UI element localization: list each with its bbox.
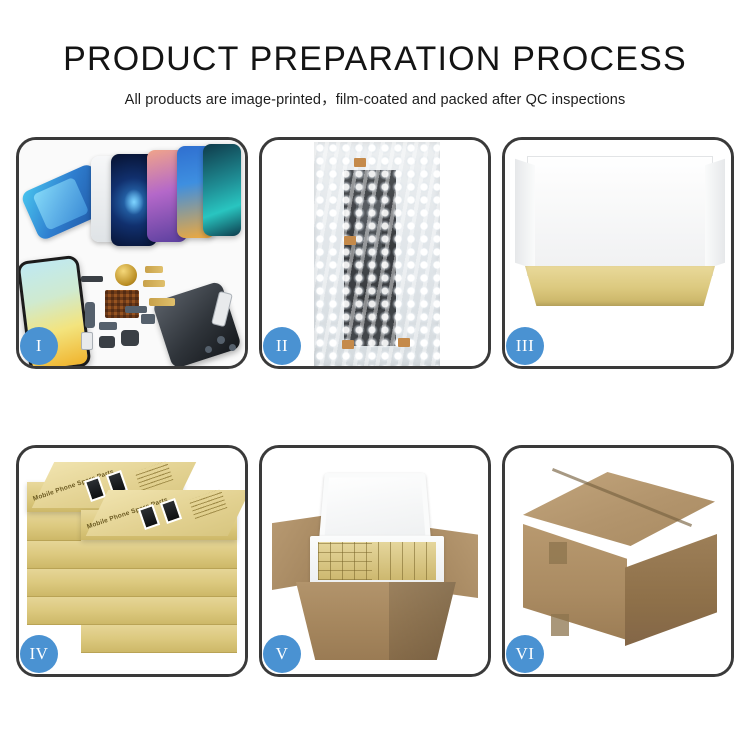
tape-top — [354, 158, 366, 167]
step-panel-6: VI — [502, 445, 734, 677]
bubble-wrap-bag — [314, 142, 440, 366]
styrofoam-lid — [319, 473, 431, 540]
logic-board — [105, 290, 139, 318]
screw-2 — [229, 344, 236, 351]
stacked-box-12 — [81, 622, 237, 652]
carton-front-face — [523, 524, 627, 640]
carton-body — [296, 582, 456, 660]
flex-cable-2 — [143, 280, 165, 287]
page-title: PRODUCT PREPARATION PROCESS — [0, 42, 750, 78]
screw-3 — [205, 346, 212, 353]
flex-cable-1 — [145, 266, 163, 273]
stacked-box-9 — [81, 538, 237, 568]
bubble-gloss — [314, 142, 440, 366]
kraft-box-base — [525, 266, 715, 306]
part-strip-1 — [81, 276, 103, 282]
page-subtitle: All products are image-printed，film-coat… — [0, 88, 750, 109]
speaker-module — [115, 264, 137, 286]
step-panel-1: I — [16, 137, 248, 369]
tape-bottom-left — [342, 340, 354, 349]
step-badge-2: II — [263, 327, 301, 365]
step-panel-3: III — [502, 137, 734, 369]
product-preparation-infographic: PRODUCT PREPARATION PROCESS All products… — [0, 0, 750, 750]
stacked-box-10 — [81, 566, 237, 596]
step-badge-1: I — [20, 327, 58, 365]
tape-bottom-right — [398, 338, 410, 347]
step-panel-5: V — [259, 445, 491, 677]
step-panel-4: Mobile Phone Spare Parts Mobile Phone Sp… — [16, 445, 248, 677]
taptic-engine — [121, 330, 139, 346]
carton-tape-patch-bottom — [551, 614, 569, 636]
part-strip-2 — [125, 306, 147, 313]
packed-yellow-boxes — [318, 542, 436, 580]
step-panel-2: II — [259, 137, 491, 369]
step-badge-5: V — [263, 635, 301, 673]
carton-side-face — [625, 534, 717, 646]
part-chip-1 — [141, 314, 155, 324]
header: PRODUCT PREPARATION PROCESS All products… — [0, 0, 750, 109]
sim-tray — [81, 332, 93, 350]
process-steps-grid: I II III — [16, 137, 734, 677]
phone-teal — [203, 144, 241, 236]
step-badge-3: III — [506, 327, 544, 365]
camera-module — [99, 336, 115, 348]
step-badge-6: VI — [506, 635, 544, 673]
foam-liner — [535, 170, 705, 270]
carton-tape-patch-top — [549, 542, 567, 564]
part-bracket-1 — [85, 302, 95, 328]
stacked-box-11 — [81, 594, 237, 624]
screw-1 — [217, 336, 225, 344]
flex-cable-3 — [149, 298, 175, 306]
step-badge-4: IV — [20, 635, 58, 673]
part-bracket-2 — [99, 322, 117, 330]
box-stack: Mobile Phone Spare Parts Mobile Phone Sp… — [25, 466, 241, 662]
tape-middle — [344, 236, 356, 245]
